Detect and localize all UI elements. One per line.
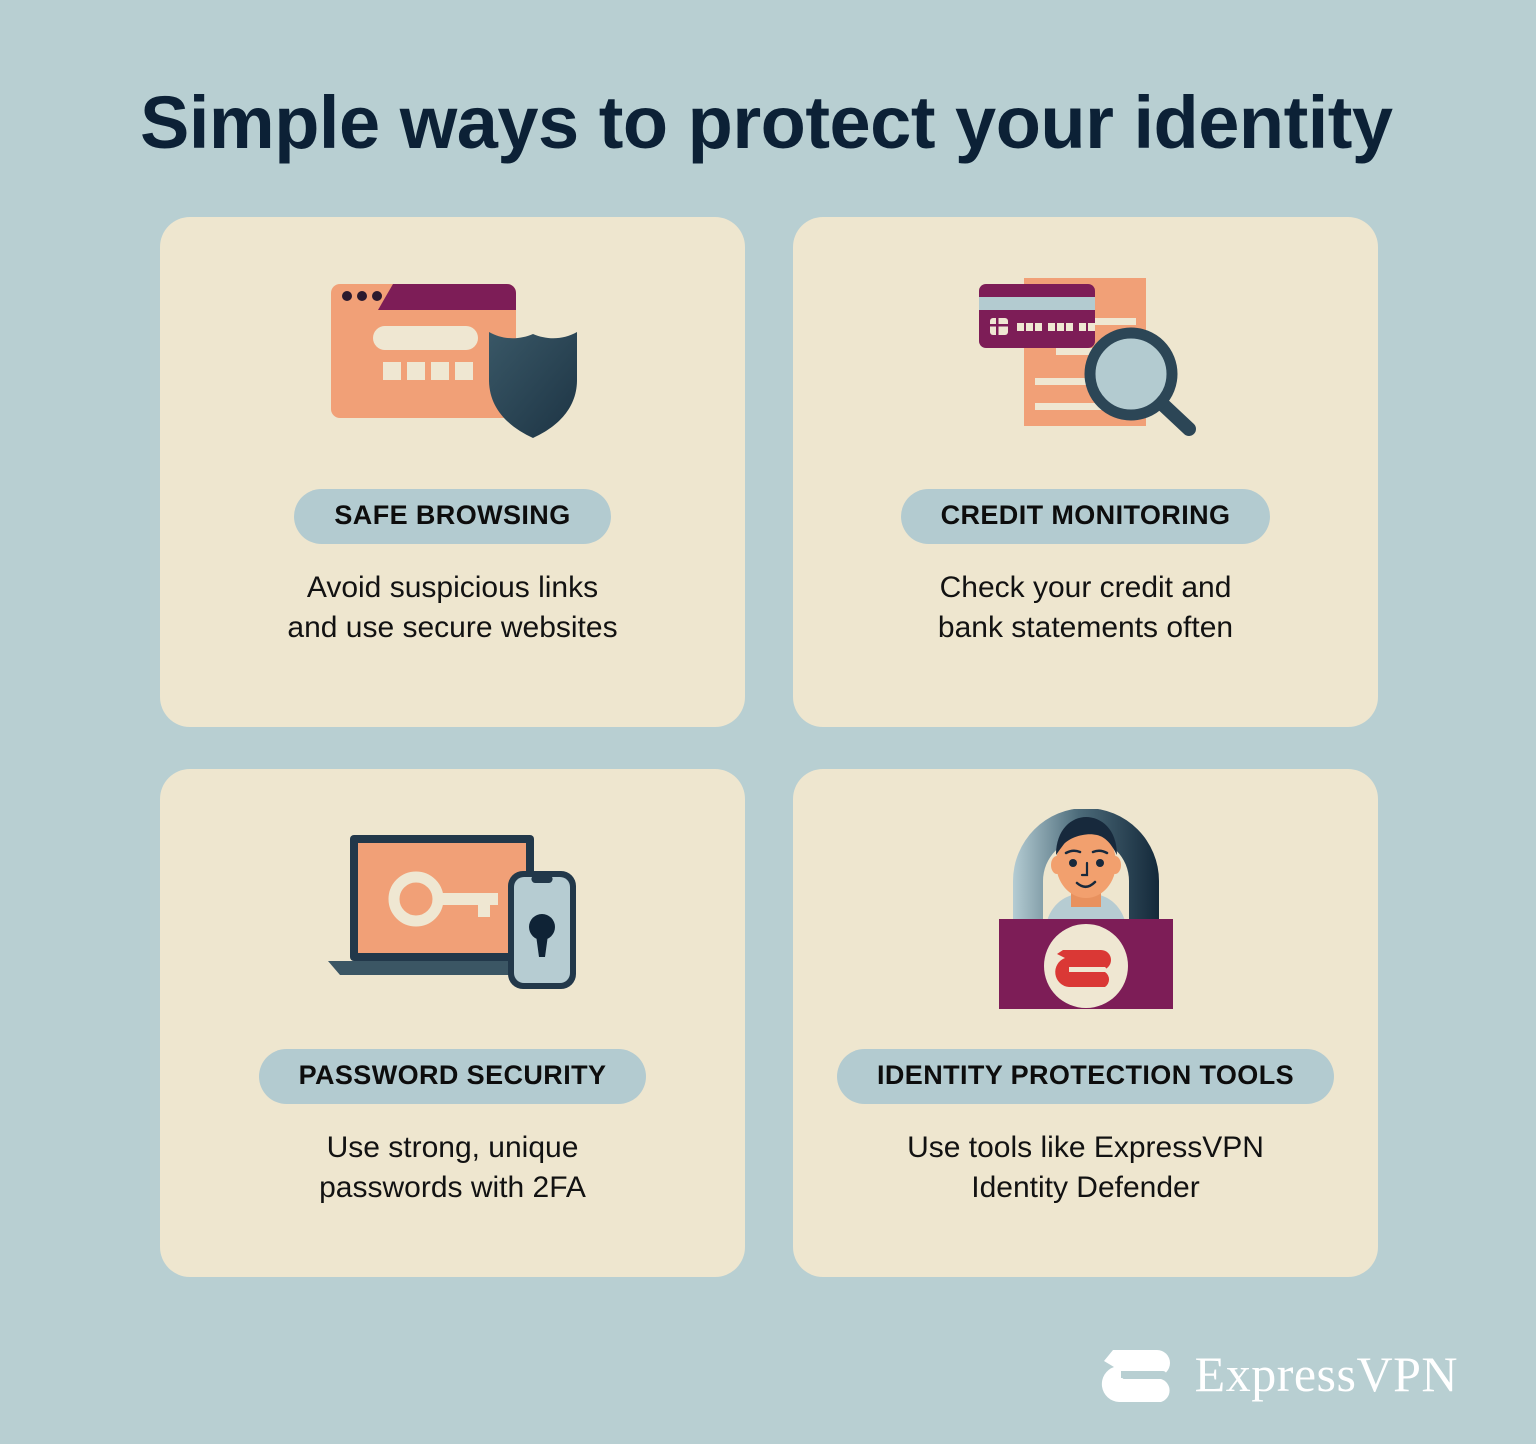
badge-safe-browsing: SAFE BROWSING xyxy=(294,489,610,544)
page-title: Simple ways to protect your identity xyxy=(140,86,1440,160)
desc-credit-monitoring: Check your credit and bank statements of… xyxy=(938,568,1233,647)
desc-password-security: Use strong, unique passwords with 2FA xyxy=(319,1128,586,1207)
card-grid: SAFE BROWSING Avoid suspicious links and… xyxy=(160,217,1378,1277)
badge-password-security: PASSWORD SECURITY xyxy=(259,1049,647,1104)
infographic-page: Simple ways to protect your identity xyxy=(0,0,1536,1444)
expressvpn-footer-logo: ExpressVPN xyxy=(1101,1342,1458,1406)
badge-credit-monitoring: CREDIT MONITORING xyxy=(901,489,1271,544)
credit-card-magnifier-icon xyxy=(793,217,1378,489)
expressvpn-e-icon xyxy=(1101,1342,1179,1406)
badge-identity-protection-tools: IDENTITY PROTECTION TOOLS xyxy=(837,1049,1334,1104)
desc-identity-protection-tools: Use tools like ExpressVPN Identity Defen… xyxy=(907,1128,1264,1207)
expressvpn-wordmark: ExpressVPN xyxy=(1195,1349,1458,1399)
padlock-person-icon xyxy=(793,769,1378,1049)
card-safe-browsing[interactable]: SAFE BROWSING Avoid suspicious links and… xyxy=(160,217,745,727)
card-password-security[interactable]: PASSWORD SECURITY Use strong, unique pas… xyxy=(160,769,745,1277)
browser-shield-icon xyxy=(160,217,745,489)
card-credit-monitoring[interactable]: CREDIT MONITORING Check your credit and … xyxy=(793,217,1378,727)
card-identity-protection-tools[interactable]: IDENTITY PROTECTION TOOLS Use tools like… xyxy=(793,769,1378,1277)
desc-safe-browsing: Avoid suspicious links and use secure we… xyxy=(287,568,617,647)
laptop-phone-key-icon xyxy=(160,769,745,1049)
